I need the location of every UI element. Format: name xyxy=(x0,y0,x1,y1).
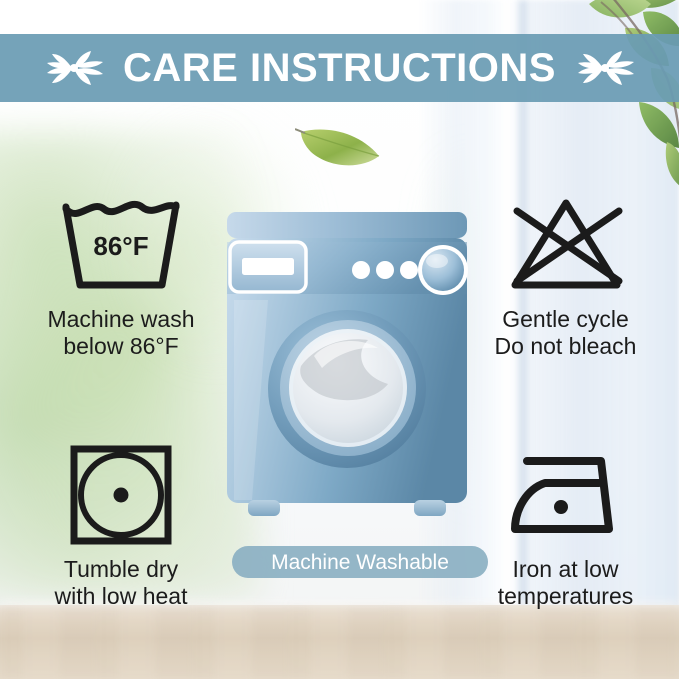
care-symbol-tumble-dry: Tumble dry with low heat xyxy=(6,440,236,610)
care-instructions-banner: CARE INSTRUCTIONS xyxy=(0,34,679,102)
page-title: CARE INSTRUCTIONS xyxy=(123,48,556,88)
floating-leaf-icon xyxy=(295,120,395,178)
tumble-dry-icon xyxy=(6,440,236,550)
triangle-crossed-out-icon xyxy=(452,190,679,300)
washing-machine-illustration xyxy=(222,208,472,538)
wood-grain-texture xyxy=(0,605,679,679)
wash-temperature-label: 86°F xyxy=(93,231,148,261)
machine-washable-badge: Machine Washable xyxy=(232,546,488,578)
washer-dial-highlight xyxy=(426,254,448,268)
washer-foot-left xyxy=(248,500,280,516)
care-symbol-caption: Machine wash below 86°F xyxy=(6,306,236,360)
badge-label: Machine Washable xyxy=(271,552,449,573)
washer-top-lid xyxy=(227,212,467,238)
care-symbol-caption: Tumble dry with low heat xyxy=(6,556,236,610)
fleur-de-lis-icon-left xyxy=(43,46,105,90)
washer-foot-right xyxy=(414,500,446,516)
wash-tub-icon: 86°F xyxy=(6,190,236,300)
care-symbol-caption: Gentle cycle Do not bleach xyxy=(452,306,679,360)
care-symbol-iron-low: Iron at low temperatures xyxy=(452,440,679,610)
iron-icon xyxy=(452,440,679,550)
fleur-de-lis-icon-right xyxy=(574,46,636,90)
washer-button-3 xyxy=(400,261,418,279)
washer-drawer-slot xyxy=(242,258,294,275)
care-symbol-machine-wash: 86°F Machine wash below 86°F xyxy=(6,190,236,360)
care-symbol-do-not-bleach: Gentle cycle Do not bleach xyxy=(452,190,679,360)
washer-button-1 xyxy=(352,261,370,279)
washer-button-2 xyxy=(376,261,394,279)
